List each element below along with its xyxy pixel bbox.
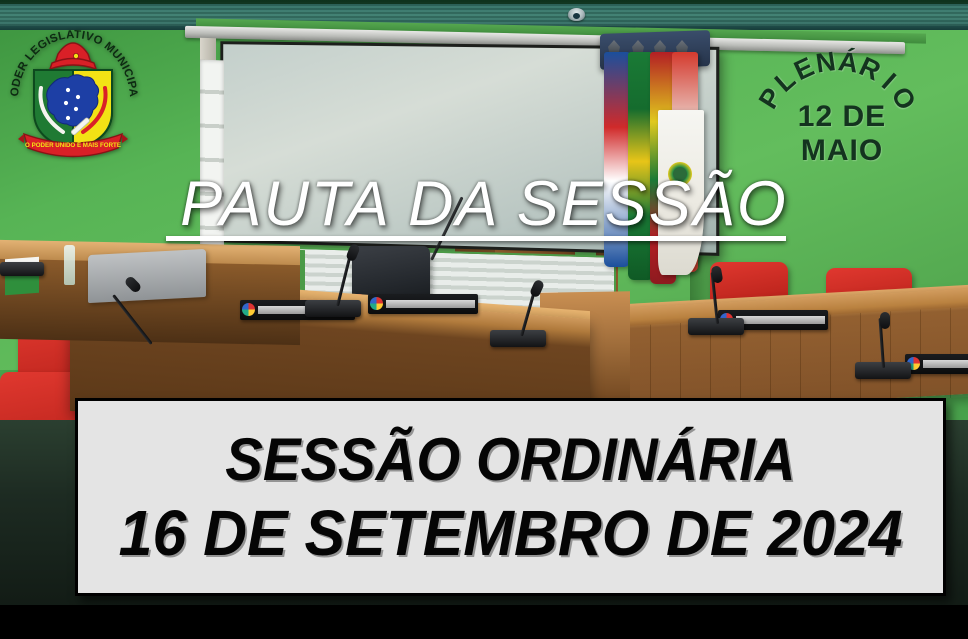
coat-of-arms: PODER LEGISLATIVO MUNICIPAL [8, 8, 138, 168]
microphone-head-4 [880, 312, 890, 329]
microphone-base-5 [0, 262, 44, 276]
laptop [88, 249, 206, 303]
microphone-base-2 [490, 330, 546, 347]
frame-bottom-edge [0, 605, 968, 639]
page-title: PAUTA DA SESSÃO [0, 168, 968, 240]
helmet-icon [50, 43, 96, 69]
frame-top-edge [0, 0, 968, 4]
shield [34, 70, 112, 150]
session-type-label: SESSÃO ORDINÁRIA [225, 425, 795, 494]
nameplate-4 [905, 354, 968, 374]
microphone-base-1 [305, 300, 361, 317]
session-date-label: 16 DE SETEMBRO DE 2024 [119, 496, 903, 570]
wall-sign-letter: N [814, 46, 838, 79]
motto-text: O PODER UNIDO É MAIS FORTE [25, 141, 121, 149]
water-bottle [64, 245, 75, 285]
session-info-box: SESSÃO ORDINÁRIA 16 DE SETEMBRO DE 2024 [75, 398, 946, 596]
announcement-card: PLENÁRIO 12 DE MAIO [0, 0, 968, 639]
title-underline [166, 236, 786, 241]
security-camera-icon [568, 8, 585, 21]
nameplate-2 [368, 294, 478, 314]
wall-sign-date: 12 DE MAIO [752, 100, 932, 168]
